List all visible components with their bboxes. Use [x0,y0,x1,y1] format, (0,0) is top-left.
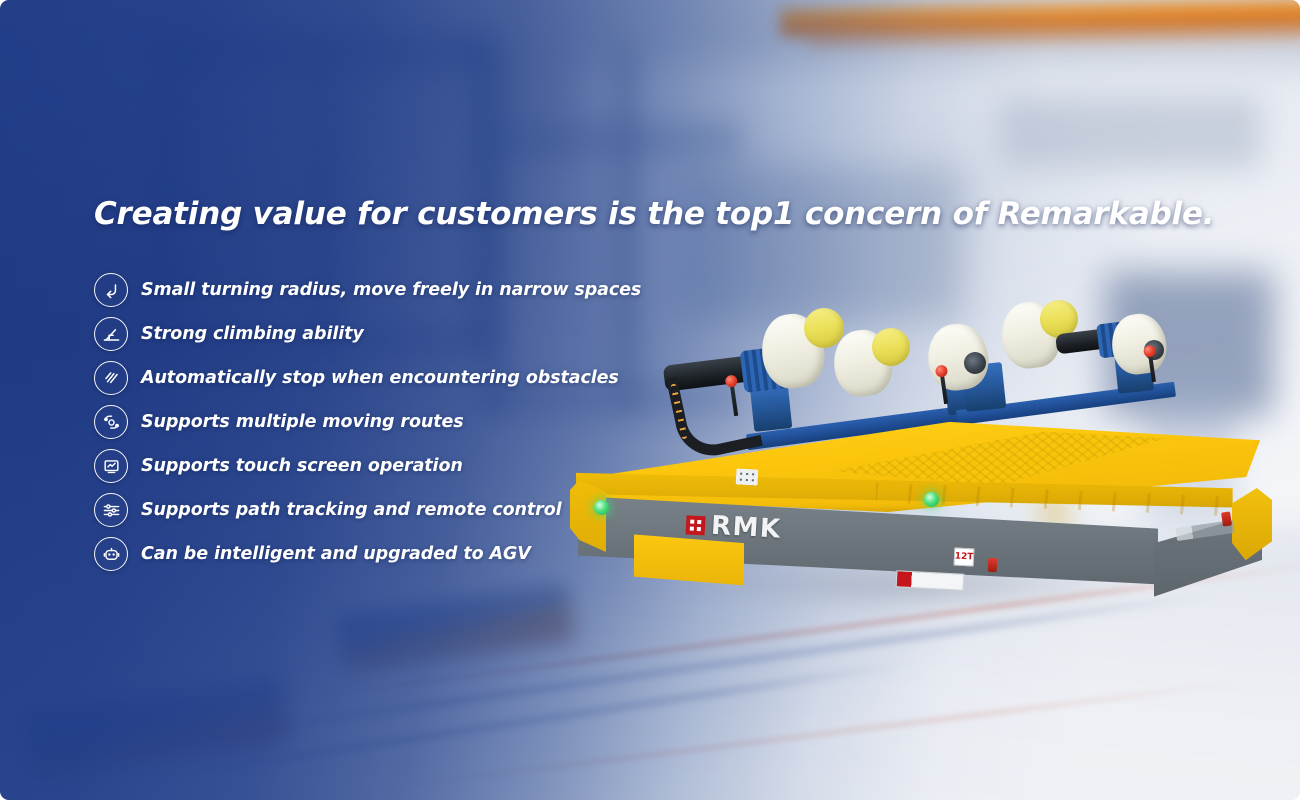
feature-item-turning-radius: Small turning radius, move freely in nar… [94,274,1024,306]
feature-label: Small turning radius, move freely in nar… [141,280,641,300]
feature-label: Strong climbing ability [141,324,364,344]
product-feature-banner: RMK 12T Creating value for customers is … [0,0,1300,800]
headline: Creating value for customers is the top1… [94,196,1024,232]
feature-item-climbing: Strong climbing ability [94,318,1024,350]
feature-item-obstacle-stop: Automatically stop when encountering obs… [94,362,1024,394]
feature-label: Supports path tracking and remote contro… [141,500,562,520]
feature-label: Automatically stop when encountering obs… [141,368,619,388]
feature-item-agv-upgrade: Can be intelligent and upgraded to AGV [94,538,1024,570]
feature-label: Supports multiple moving routes [141,412,464,432]
feature-item-path-tracking: Supports path tracking and remote contro… [94,494,1024,526]
robot-head-icon [94,537,128,571]
slope-climb-icon [94,317,128,351]
feature-label: Supports touch screen operation [141,456,463,476]
emergency-stop-button-2[interactable] [1221,511,1232,526]
feature-label: Can be intelligent and upgraded to AGV [141,544,531,564]
feature-item-multiple-routes: Supports multiple moving routes [94,406,1024,438]
sliders-control-icon [94,493,128,527]
feature-item-touch-screen: Supports touch screen operation [94,450,1024,482]
banner-content: Creating value for customers is the top1… [94,196,1024,582]
route-map-icon [94,405,128,439]
touch-screen-icon [94,449,128,483]
u-turn-arrow-icon [94,273,128,307]
feature-list: Small turning radius, move freely in nar… [94,274,1024,570]
obstacle-slashes-icon [94,361,128,395]
